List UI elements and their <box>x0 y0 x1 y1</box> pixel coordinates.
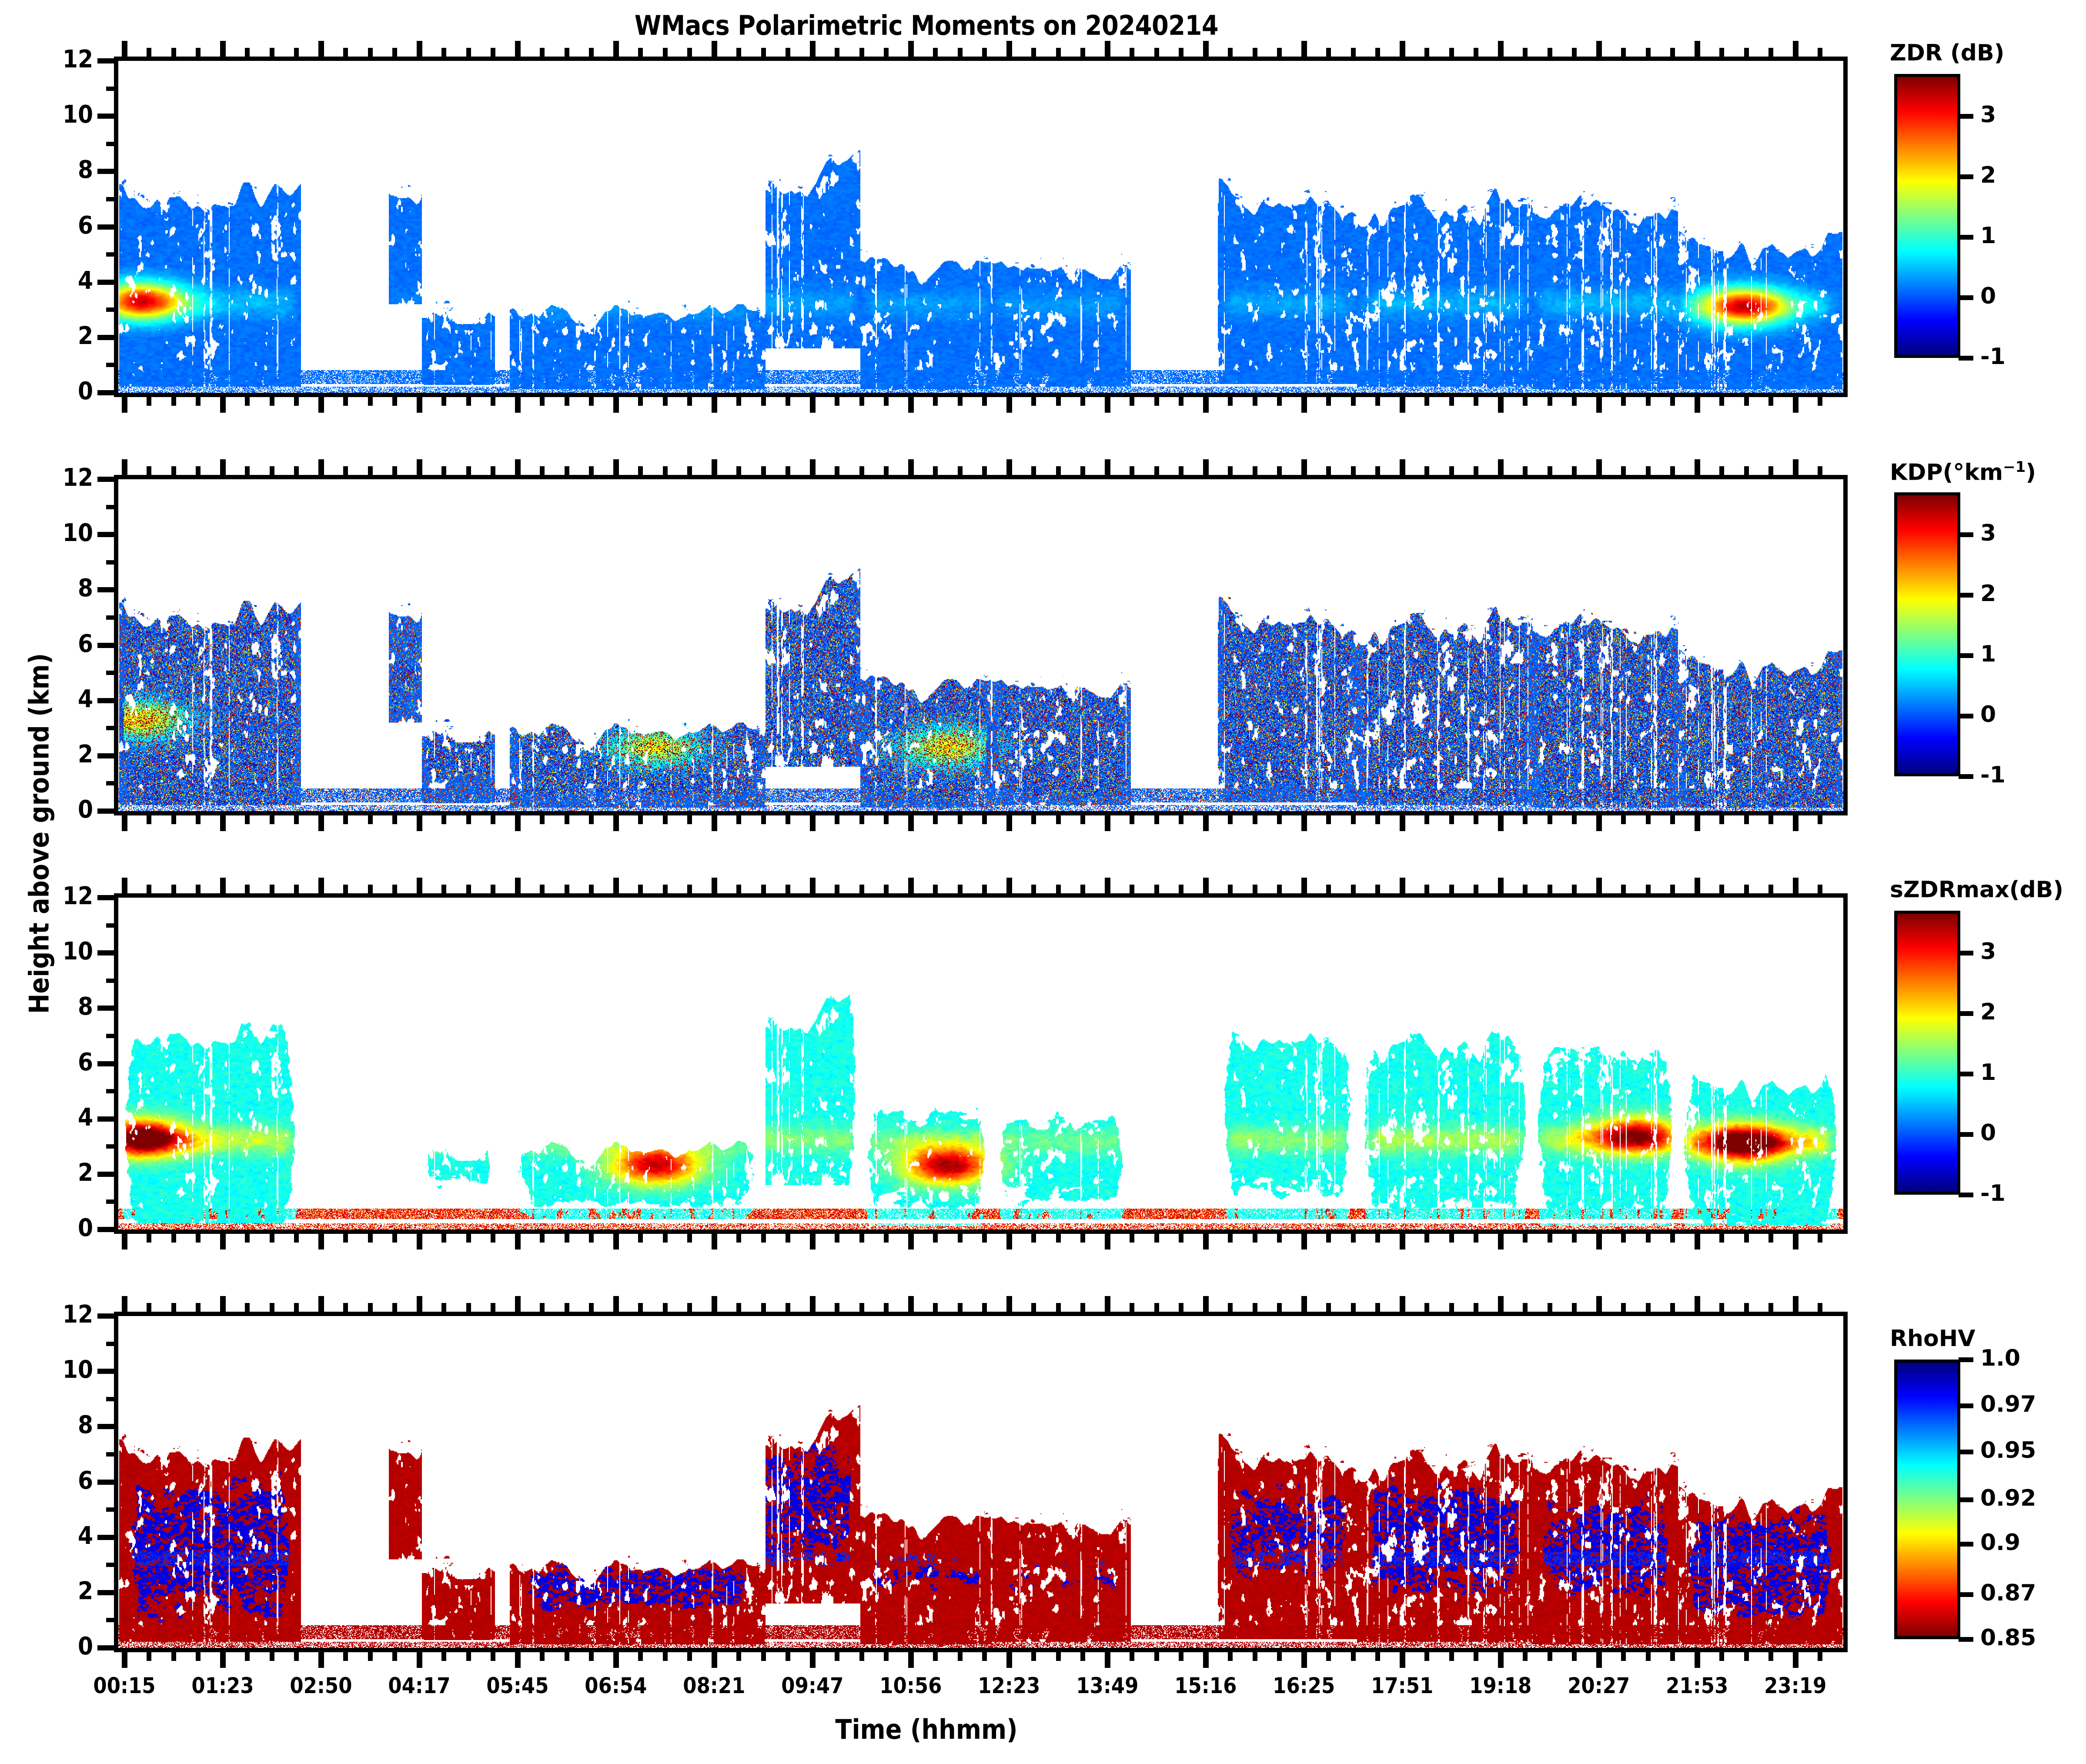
x-tick-minor <box>565 1229 569 1243</box>
x-tick-major <box>122 811 127 831</box>
x-tick-minor <box>147 48 151 61</box>
y-tick-major <box>97 1369 118 1374</box>
x-tick-minor <box>884 1648 889 1661</box>
x-tick-minor <box>1818 885 1822 898</box>
x-tick-minor <box>1548 393 1552 406</box>
x-tick-major <box>1105 459 1110 479</box>
y-tick-minor <box>106 1199 118 1204</box>
x-tick-minor <box>392 48 397 61</box>
x-tick-major <box>1301 1296 1307 1316</box>
x-tick-major <box>1006 1229 1012 1249</box>
x-tick-minor <box>638 1303 643 1316</box>
x-tick-minor <box>196 811 201 824</box>
x-tick-minor <box>835 1303 839 1316</box>
x-tick-minor <box>245 466 250 479</box>
colorbar-tick-label: 0 <box>1980 283 1996 309</box>
colorbar-tick-label: -1 <box>1980 762 2006 788</box>
x-tick-minor <box>687 1303 692 1316</box>
x-tick-major <box>1695 41 1700 61</box>
x-tick-major <box>712 1648 717 1668</box>
x-tick-minor <box>196 885 201 898</box>
x-tick-minor <box>1523 885 1528 898</box>
x-tick-minor <box>1670 811 1675 824</box>
panel-szdrmax <box>114 893 1848 1234</box>
x-tick-minor <box>1179 885 1183 898</box>
x-tick-minor <box>687 1648 692 1661</box>
x-tick-minor <box>1253 885 1257 898</box>
x-tick-major <box>318 41 324 61</box>
x-tick-minor <box>1326 811 1331 824</box>
x-tick-major <box>1105 878 1110 898</box>
x-tick-minor <box>1621 811 1626 824</box>
y-tick-minor <box>106 1507 118 1512</box>
x-tick-minor <box>933 885 938 898</box>
x-tick-minor <box>368 1303 373 1316</box>
x-tick-minor <box>1818 1303 1822 1316</box>
x-tick-minor <box>884 393 889 406</box>
x-tick-minor <box>565 466 569 479</box>
colorbar-tick-label: 0 <box>1980 702 1996 728</box>
x-tick-minor <box>196 393 201 406</box>
x-tick-minor <box>1744 1648 1749 1661</box>
x-tick-minor <box>786 466 790 479</box>
x-tick-major <box>1400 1229 1405 1249</box>
x-tick-minor <box>1277 393 1282 406</box>
x-tick-major <box>1498 393 1504 413</box>
y-tick-minor <box>106 1144 118 1149</box>
colorbar-tick <box>1959 1542 1973 1547</box>
x-tick-minor <box>958 1648 963 1661</box>
x-tick-major <box>1105 1648 1110 1668</box>
x-tick-minor <box>491 1303 495 1316</box>
colorbar-tick <box>1959 653 1973 658</box>
x-tick-minor <box>1744 1303 1749 1316</box>
x-tick-minor <box>245 811 250 824</box>
x-tick-minor <box>958 1229 963 1243</box>
x-tick-minor <box>1768 1648 1773 1661</box>
x-tick-minor <box>1449 885 1454 898</box>
x-tick-label: 10:56 <box>854 1673 967 1698</box>
x-tick-minor <box>1523 811 1528 824</box>
x-tick-minor <box>933 811 938 824</box>
x-tick-major <box>613 1296 619 1316</box>
x-tick-major <box>1006 393 1012 413</box>
x-tick-minor <box>1523 466 1528 479</box>
x-tick-minor <box>589 1303 594 1316</box>
x-tick-major <box>1105 1296 1110 1316</box>
x-tick-major <box>515 459 521 479</box>
x-tick-minor <box>859 1229 864 1243</box>
x-tick-minor <box>835 1648 839 1661</box>
x-tick-minor <box>343 1303 348 1316</box>
x-tick-minor <box>859 48 864 61</box>
colorbar-tick <box>1959 1193 1973 1197</box>
y-tick-minor <box>106 1618 118 1622</box>
x-tick-minor <box>1375 885 1380 898</box>
x-tick-minor <box>147 466 151 479</box>
x-tick-minor <box>1572 1229 1577 1243</box>
x-tick-major <box>1301 811 1307 831</box>
x-tick-major <box>712 878 717 898</box>
x-tick-minor <box>196 1648 201 1661</box>
x-tick-major <box>220 878 226 898</box>
x-tick-minor <box>147 1648 151 1661</box>
x-tick-minor <box>270 811 274 824</box>
x-tick-minor <box>368 466 373 479</box>
x-tick-minor <box>466 466 471 479</box>
y-tick-major <box>97 1006 118 1011</box>
x-tick-minor <box>392 811 397 824</box>
colorbar-tick-label: 0.95 <box>1980 1437 2036 1463</box>
colorbar-tick-label: 0 <box>1980 1120 1996 1146</box>
colorbar-tick <box>1959 1592 1973 1597</box>
y-tick-major <box>97 335 118 340</box>
y-tick-major <box>97 224 118 230</box>
colorbar-gradient <box>1894 1360 1960 1639</box>
colorbar-tick-label: 1 <box>1980 223 1996 249</box>
x-tick-major <box>1400 878 1405 898</box>
x-tick-minor <box>859 393 864 406</box>
x-tick-major <box>613 41 619 61</box>
x-tick-minor <box>1228 393 1233 406</box>
x-tick-minor <box>1474 885 1478 898</box>
x-tick-label: 15:16 <box>1149 1673 1262 1698</box>
x-tick-minor <box>1179 1229 1183 1243</box>
x-tick-major <box>810 1296 816 1316</box>
x-tick-minor <box>1474 1303 1478 1316</box>
x-tick-major <box>1498 1229 1504 1249</box>
x-tick-minor <box>1326 885 1331 898</box>
x-tick-minor <box>1474 393 1478 406</box>
y-tick-label: 6 <box>19 211 93 240</box>
x-tick-major <box>1105 393 1110 413</box>
x-tick-minor <box>1351 1303 1356 1316</box>
x-tick-minor <box>761 1648 766 1661</box>
x-tick-minor <box>1375 1303 1380 1316</box>
x-tick-minor <box>1031 811 1036 824</box>
y-tick-major <box>97 532 118 537</box>
colorbar-tick <box>1959 295 1973 300</box>
x-tick-minor <box>1277 1303 1282 1316</box>
x-tick-major <box>122 878 127 898</box>
x-tick-major <box>417 459 422 479</box>
x-tick-minor <box>1474 1229 1478 1243</box>
x-tick-minor <box>368 811 373 824</box>
x-tick-minor <box>245 1303 250 1316</box>
x-tick-minor <box>1646 466 1651 479</box>
x-tick-label: 13:49 <box>1051 1673 1164 1698</box>
x-tick-minor <box>491 48 495 61</box>
x-tick-major <box>712 811 717 831</box>
x-tick-minor <box>1351 48 1356 61</box>
x-tick-major <box>1301 878 1307 898</box>
x-tick-minor <box>1080 1648 1085 1661</box>
x-tick-minor <box>540 48 545 61</box>
x-tick-major <box>1203 1648 1209 1668</box>
y-tick-major <box>97 477 118 482</box>
x-tick-minor <box>392 885 397 898</box>
x-tick-minor <box>1080 1303 1085 1316</box>
colorbar-tick-label: -1 <box>1980 344 2006 370</box>
x-tick-minor <box>835 48 839 61</box>
colorbar-tick <box>1959 1403 1973 1408</box>
x-tick-minor <box>368 1229 373 1243</box>
colorbar-title: KDP(°km−1) <box>1890 458 2036 485</box>
x-tick-minor <box>933 466 938 479</box>
x-tick-minor <box>1056 885 1061 898</box>
x-tick-minor <box>1326 1303 1331 1316</box>
y-tick-minor <box>106 1563 118 1567</box>
x-tick-minor <box>565 811 569 824</box>
x-tick-label: 19:18 <box>1444 1673 1557 1698</box>
x-tick-major <box>122 1296 127 1316</box>
x-tick-major <box>908 393 914 413</box>
y-tick-major <box>97 1313 118 1319</box>
x-tick-minor <box>171 1648 176 1661</box>
x-tick-minor <box>1056 811 1061 824</box>
x-tick-minor <box>761 48 766 61</box>
y-tick-label: 8 <box>19 574 93 602</box>
x-tick-major <box>908 1648 914 1668</box>
x-tick-minor <box>1253 393 1257 406</box>
x-tick-major <box>1695 393 1700 413</box>
x-tick-minor <box>441 393 446 406</box>
y-tick-label: 6 <box>19 1048 93 1076</box>
x-tick-minor <box>884 811 889 824</box>
x-tick-minor <box>1253 466 1257 479</box>
x-tick-minor <box>835 811 839 824</box>
x-tick-major <box>417 41 422 61</box>
x-tick-minor <box>1523 1648 1528 1661</box>
x-tick-minor <box>933 393 938 406</box>
x-tick-major <box>515 878 521 898</box>
x-tick-minor <box>343 393 348 406</box>
x-tick-major <box>1301 41 1307 61</box>
x-tick-minor <box>1375 466 1380 479</box>
x-tick-minor <box>761 466 766 479</box>
y-tick-label: 6 <box>19 1467 93 1495</box>
x-tick-label: 16:25 <box>1247 1673 1361 1698</box>
x-tick-major <box>220 1296 226 1316</box>
x-tick-major <box>1695 459 1700 479</box>
y-tick-label: 12 <box>19 45 93 73</box>
x-tick-major <box>1105 1229 1110 1249</box>
x-tick-minor <box>1670 1303 1675 1316</box>
x-tick-label: 20:27 <box>1542 1673 1655 1698</box>
y-tick-minor <box>106 1397 118 1401</box>
x-tick-major <box>1400 1648 1405 1668</box>
x-tick-minor <box>638 885 643 898</box>
x-tick-major <box>1793 878 1799 898</box>
x-tick-minor <box>663 48 668 61</box>
x-tick-major <box>1006 459 1012 479</box>
x-tick-minor <box>147 393 151 406</box>
x-tick-minor <box>736 466 741 479</box>
x-tick-minor <box>270 393 274 406</box>
x-tick-major <box>318 1648 324 1668</box>
x-tick-major <box>1498 459 1504 479</box>
x-tick-minor <box>663 1303 668 1316</box>
x-tick-major <box>908 1229 914 1249</box>
x-tick-major <box>712 1229 717 1249</box>
x-tick-minor <box>589 885 594 898</box>
x-tick-major <box>613 878 619 898</box>
x-tick-major <box>613 811 619 831</box>
x-tick-minor <box>1424 1229 1429 1243</box>
x-tick-minor <box>1523 1303 1528 1316</box>
colorbar-tick-label: 0.92 <box>1980 1485 2036 1511</box>
x-tick-minor <box>294 1648 299 1661</box>
x-tick-minor <box>1474 1648 1478 1661</box>
x-tick-minor <box>687 466 692 479</box>
x-tick-minor <box>687 885 692 898</box>
x-tick-major <box>1498 41 1504 61</box>
y-tick-minor <box>106 363 118 367</box>
x-tick-major <box>1400 393 1405 413</box>
y-tick-label: 0 <box>19 795 93 824</box>
x-tick-major <box>613 1229 619 1249</box>
x-tick-minor <box>982 811 987 824</box>
x-tick-major <box>417 878 422 898</box>
x-tick-minor <box>1154 1648 1159 1661</box>
x-tick-major <box>318 878 324 898</box>
colorbar-tick-label: 3 <box>1980 102 1996 128</box>
x-tick-minor <box>786 1229 790 1243</box>
x-tick-minor <box>270 466 274 479</box>
x-tick-minor <box>1080 393 1085 406</box>
x-tick-minor <box>884 466 889 479</box>
x-tick-major <box>1400 811 1405 831</box>
x-tick-minor <box>1031 1303 1036 1316</box>
x-tick-minor <box>1768 1303 1773 1316</box>
y-tick-major <box>97 169 118 174</box>
x-tick-minor <box>761 885 766 898</box>
x-tick-minor <box>1154 811 1159 824</box>
y-tick-minor <box>106 1089 118 1093</box>
x-tick-minor <box>1818 1229 1822 1243</box>
panel-zdr <box>114 57 1848 397</box>
x-tick-major <box>908 459 914 479</box>
x-tick-minor <box>343 1648 348 1661</box>
y-tick-minor <box>106 615 118 620</box>
x-tick-minor <box>1621 48 1626 61</box>
panel-kdp-data <box>118 479 1843 811</box>
y-tick-label: 6 <box>19 630 93 658</box>
x-tick-minor <box>1646 1229 1651 1243</box>
x-tick-minor <box>982 1229 987 1243</box>
x-tick-minor <box>736 885 741 898</box>
x-tick-minor <box>958 48 963 61</box>
x-tick-minor <box>933 1648 938 1661</box>
x-tick-minor <box>1375 393 1380 406</box>
colorbar-title: RhoHV <box>1890 1326 1976 1352</box>
x-tick-major <box>1006 41 1012 61</box>
x-tick-minor <box>1080 885 1085 898</box>
x-tick-major <box>318 1296 324 1316</box>
x-tick-minor <box>589 811 594 824</box>
x-tick-major <box>712 1296 717 1316</box>
x-tick-minor <box>171 1303 176 1316</box>
x-tick-minor <box>1031 466 1036 479</box>
colorbar-tick-label: 2 <box>1980 162 1996 188</box>
x-tick-minor <box>1228 885 1233 898</box>
y-tick-label: 8 <box>19 1411 93 1439</box>
x-tick-minor <box>392 1229 397 1243</box>
x-tick-minor <box>1351 393 1356 406</box>
x-tick-major <box>1400 41 1405 61</box>
x-tick-minor <box>491 1648 495 1661</box>
x-tick-minor <box>1179 1648 1183 1661</box>
y-tick-label: 2 <box>19 322 93 350</box>
x-tick-minor <box>1228 811 1233 824</box>
x-tick-minor <box>1179 466 1183 479</box>
y-tick-label: 4 <box>19 685 93 713</box>
x-tick-minor <box>1646 393 1651 406</box>
x-tick-minor <box>1523 1229 1528 1243</box>
x-tick-minor <box>1719 885 1724 898</box>
colorbar-tick-label: 2 <box>1980 581 1996 607</box>
x-tick-minor <box>1474 811 1478 824</box>
x-tick-major <box>810 811 816 831</box>
y-tick-label: 8 <box>19 156 93 184</box>
x-tick-major <box>1006 878 1012 898</box>
x-tick-minor <box>958 466 963 479</box>
x-tick-minor <box>1523 48 1528 61</box>
x-tick-minor <box>1179 393 1183 406</box>
x-tick-minor <box>1056 393 1061 406</box>
x-tick-minor <box>1449 1303 1454 1316</box>
x-tick-minor <box>171 1229 176 1243</box>
x-tick-minor <box>270 1648 274 1661</box>
x-tick-minor <box>1253 811 1257 824</box>
x-tick-minor <box>1424 1303 1429 1316</box>
x-tick-major <box>1596 393 1602 413</box>
y-tick-major <box>97 1535 118 1540</box>
x-tick-major <box>1793 393 1799 413</box>
x-tick-minor <box>1646 811 1651 824</box>
x-tick-minor <box>1228 1229 1233 1243</box>
x-tick-minor <box>1031 885 1036 898</box>
x-tick-minor <box>1621 1648 1626 1661</box>
x-tick-minor <box>687 1229 692 1243</box>
x-tick-minor <box>663 1648 668 1661</box>
x-tick-minor <box>1080 1229 1085 1243</box>
x-tick-minor <box>1449 1648 1454 1661</box>
y-tick-label: 8 <box>19 992 93 1021</box>
x-tick-minor <box>171 811 176 824</box>
x-tick-minor <box>1548 1648 1552 1661</box>
colorbar-gradient <box>1894 492 1960 776</box>
x-tick-minor <box>1056 1303 1061 1316</box>
x-tick-major <box>1006 811 1012 831</box>
y-tick-label: 0 <box>19 377 93 405</box>
x-tick-minor <box>1768 811 1773 824</box>
x-tick-label: 23:19 <box>1739 1673 1852 1698</box>
x-tick-major <box>1203 811 1209 831</box>
y-tick-major <box>97 808 118 814</box>
panel-rhohv-data <box>118 1316 1843 1648</box>
x-tick-minor <box>466 1229 471 1243</box>
y-tick-major <box>97 1227 118 1232</box>
y-tick-label: 4 <box>19 267 93 295</box>
y-tick-major <box>97 1480 118 1485</box>
y-tick-minor <box>106 560 118 565</box>
x-tick-major <box>1498 1296 1504 1316</box>
x-tick-minor <box>835 393 839 406</box>
x-tick-minor <box>1277 885 1282 898</box>
y-tick-major <box>97 58 118 63</box>
x-tick-minor <box>1080 48 1085 61</box>
